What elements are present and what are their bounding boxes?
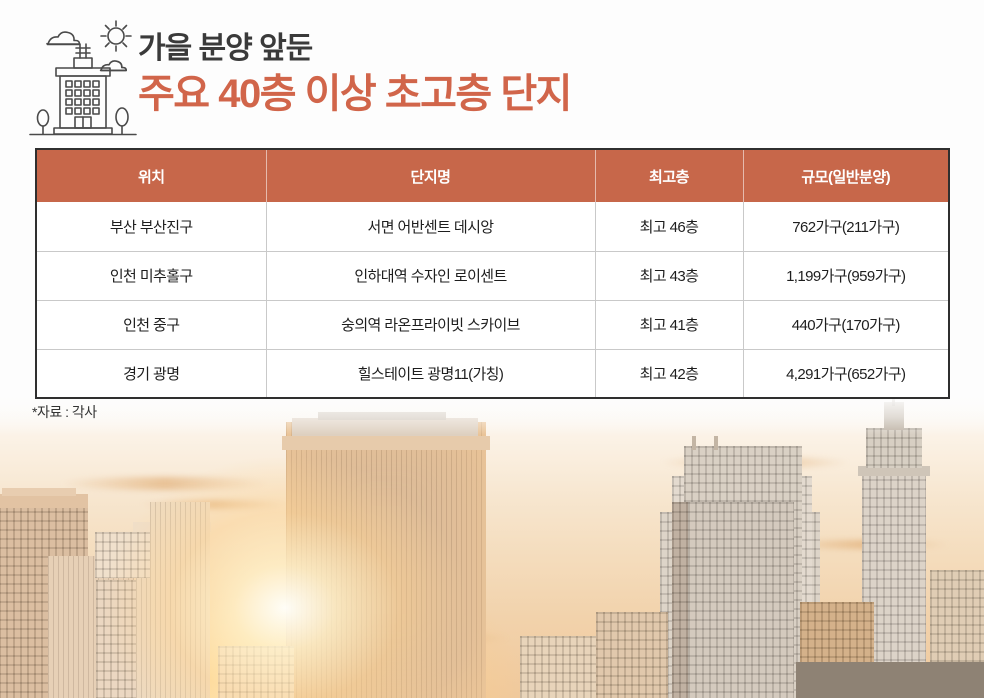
skyline-spire-antenna [884,402,904,430]
header: 가을 분양 앞둔 주요 40층 이상 초고층 단지 [0,0,984,145]
skyscraper-sun-cloud-icon [22,14,144,136]
page-title: 주요 40층 이상 초고층 단지 [138,70,571,118]
skyline-low-structure [796,662,984,698]
cell-floors: 최고 42층 [595,349,743,398]
cell-location: 경기 광명 [36,349,266,398]
column-header-scale: 규모(일반분양) [743,149,949,202]
skyline-tower-crown [282,436,490,450]
cell-complex: 서면 어반센트 데시앙 [266,202,595,251]
cell-scale: 762가구(211가구) [743,202,949,251]
cell-scale: 440가구(170가구) [743,300,949,349]
skyline-tower-crown [292,418,478,436]
skyline-building [688,502,794,698]
sunset-city-skyline-photo [0,395,984,698]
cell-floors: 최고 46층 [595,202,743,251]
cell-location: 인천 미추홀구 [36,251,266,300]
title-block: 가을 분양 앞둔 주요 40층 이상 초고층 단지 [138,30,571,118]
skyline-building-cap [0,494,88,508]
table-container: 위치 단지명 최고층 규모(일반분양) 부산 부산진구 서면 어반센트 데시앙 … [35,148,948,399]
table-header: 위치 단지명 최고층 규모(일반분양) [36,149,949,202]
skyline-spire-crown [866,428,922,468]
cell-floors: 최고 43층 [595,251,743,300]
column-header-location: 위치 [36,149,266,202]
table-row: 인천 미추홀구 인하대역 수자인 로이센트 최고 43층 1,199가구(959… [36,251,949,300]
table-row: 인천 중구 숭의역 라온프라이빗 스카이브 최고 41층 440가구(170가구… [36,300,949,349]
cell-scale: 4,291가구(652가구) [743,349,949,398]
infographic-root: 가을 분양 앞둔 주요 40층 이상 초고층 단지 위치 단지명 최고층 규모(… [0,0,984,698]
cell-scale: 1,199가구(959가구) [743,251,949,300]
source-footnote: *자료 : 각사 [32,402,97,422]
cell-complex: 힐스테이트 광명11(가칭) [266,349,595,398]
skyline-building [596,612,668,698]
skyline-building [150,502,210,698]
cell-location: 부산 부산진구 [36,202,266,251]
skyline-tower-antenna-base [318,412,446,420]
table-row: 경기 광명 힐스테이트 광명11(가칭) 최고 42층 4,291가구(652가… [36,349,949,398]
cell-location: 인천 중구 [36,300,266,349]
table-row: 부산 부산진구 서면 어반센트 데시앙 최고 46층 762가구(211가구) [36,202,949,251]
roof-mast [714,436,718,450]
column-header-floors: 최고층 [595,149,743,202]
cell-complex: 인하대역 수자인 로이센트 [266,251,595,300]
skyline-building [218,646,294,698]
table-header-row: 위치 단지명 최고층 규모(일반분양) [36,149,949,202]
cell-complex: 숭의역 라온프라이빗 스카이브 [266,300,595,349]
cloud-wisp [60,477,270,490]
column-header-complex: 단지명 [266,149,595,202]
high-rise-complex-table: 위치 단지명 최고층 규모(일반분양) 부산 부산진구 서면 어반센트 데시앙 … [35,148,950,399]
roof-mast [692,436,696,450]
cell-floors: 최고 41층 [595,300,743,349]
skyline-building-cap [2,488,76,496]
page-subtitle: 가을 분양 앞둔 [138,30,571,68]
skyline-main-tower [286,422,486,698]
table-body: 부산 부산진구 서면 어반센트 데시앙 최고 46층 762가구(211가구) … [36,202,949,398]
